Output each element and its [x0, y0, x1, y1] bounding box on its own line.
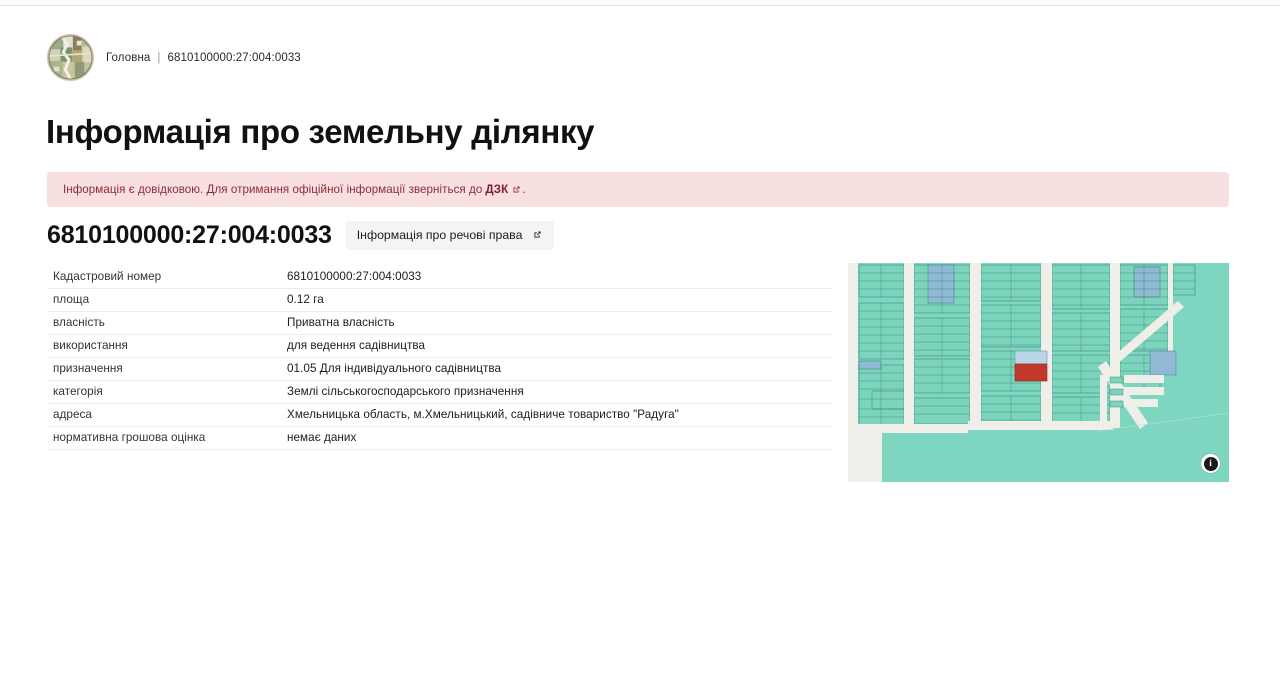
- alert-text-before: Інформація є довідковою. Для отримання о…: [63, 183, 482, 196]
- row-value: Землі сільськогосподарського призначення: [281, 381, 833, 404]
- breadcrumb: Головна | 6810100000:27:004:0033: [106, 52, 301, 64]
- row-label: категорія: [47, 381, 281, 404]
- breadcrumb-home-link[interactable]: Головна: [106, 52, 150, 64]
- cadastral-map-circle-logo-icon[interactable]: [47, 34, 94, 81]
- row-value: 01.05 Для індивідуального садівництва: [281, 358, 833, 381]
- external-link-icon: [533, 230, 542, 239]
- page-title: Інформація про земельну ділянку: [46, 110, 594, 154]
- property-rights-button[interactable]: Інформація про речові права: [346, 221, 555, 250]
- table-row: адреса Хмельницька область, м.Хмельницьк…: [47, 404, 833, 427]
- row-label: площа: [47, 289, 281, 312]
- row-value: 6810100000:27:004:0033: [281, 266, 833, 289]
- row-value: для ведення садівництва: [281, 335, 833, 358]
- table-row: використання для ведення садівництва: [47, 335, 833, 358]
- land-parcel-info-table: Кадастровий номер 6810100000:27:004:0033…: [47, 266, 833, 450]
- row-value: Приватна власність: [281, 312, 833, 335]
- cadastre-heading-row: 6810100000:27:004:0033 Інформація про ре…: [47, 219, 554, 251]
- row-label: Кадастровий номер: [47, 266, 281, 289]
- alert-text: Інформація є довідковою. Для отримання о…: [63, 183, 526, 196]
- breadcrumb-current: 6810100000:27:004:0033: [168, 52, 301, 64]
- table-row: категорія Землі сільськогосподарського п…: [47, 381, 833, 404]
- map-info-button[interactable]: i: [1201, 454, 1220, 473]
- cadastre-number: 6810100000:27:004:0033: [47, 219, 332, 251]
- parcel-location-map[interactable]: i: [848, 263, 1229, 482]
- alert-text-after: .: [522, 183, 525, 196]
- table-row: призначення 01.05 Для індивідуального са…: [47, 358, 833, 381]
- info-table-body: Кадастровий номер 6810100000:27:004:0033…: [47, 266, 833, 450]
- row-value: Хмельницька область, м.Хмельницький, сад…: [281, 404, 833, 427]
- property-rights-button-label: Інформація про речові права: [357, 228, 523, 242]
- breadcrumb-separator: |: [157, 52, 160, 64]
- row-label: нормативна грошова оцінка: [47, 427, 281, 450]
- page-root: Головна | 6810100000:27:004:0033 Інформа…: [0, 0, 1280, 684]
- row-label: використання: [47, 335, 281, 358]
- external-link-icon: [512, 185, 521, 194]
- row-label: призначення: [47, 358, 281, 381]
- row-label: власність: [47, 312, 281, 335]
- info-alert-banner: Інформація є довідковою. Для отримання о…: [47, 172, 1229, 207]
- table-row: Кадастровий номер 6810100000:27:004:0033: [47, 266, 833, 289]
- site-header: Головна | 6810100000:27:004:0033: [47, 34, 301, 81]
- table-row: власність Приватна власність: [47, 312, 833, 335]
- row-label: адреса: [47, 404, 281, 427]
- row-value: немає даних: [281, 427, 833, 450]
- row-value: 0.12 га: [281, 289, 833, 312]
- dzk-link[interactable]: ДЗК: [485, 183, 508, 196]
- table-row: площа 0.12 га: [47, 289, 833, 312]
- table-row: нормативна грошова оцінка немає даних: [47, 427, 833, 450]
- info-icon: i: [1204, 457, 1218, 471]
